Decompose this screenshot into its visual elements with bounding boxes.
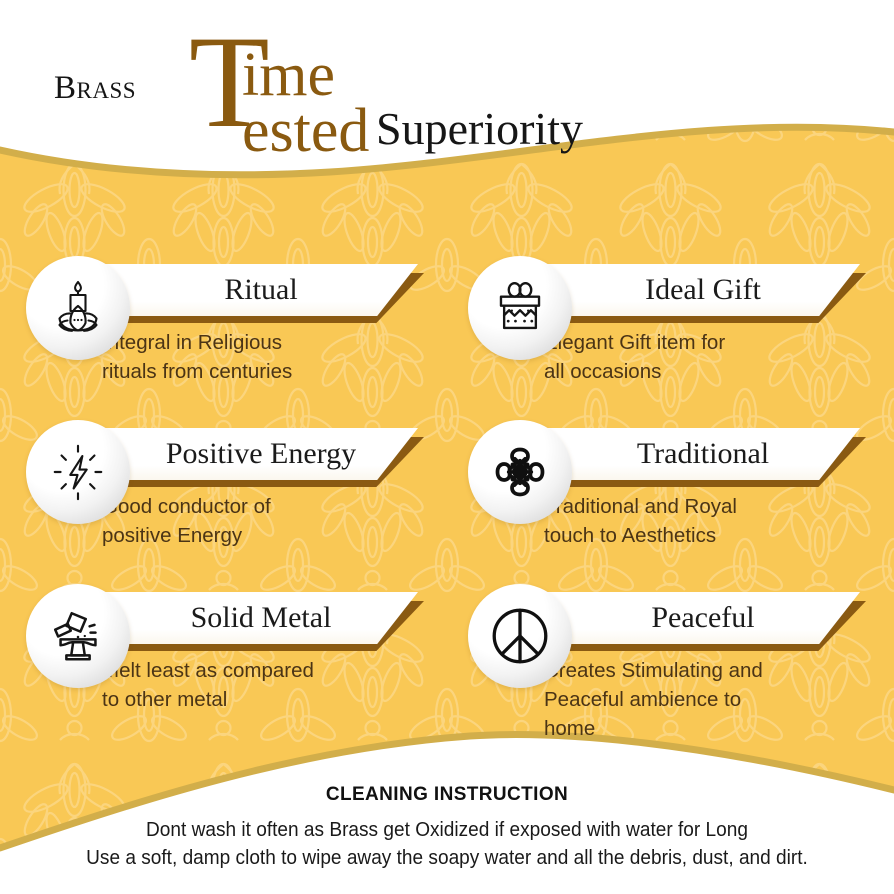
feature-title: Solid Metal	[131, 603, 366, 633]
desc-line: positive Energy	[102, 521, 422, 550]
feature-title: Ritual	[164, 275, 331, 305]
feature-item-peaceful[interactable]: Peaceful Creates Stimulating and Peacefu…	[468, 584, 868, 769]
hammer-anvil-icon	[26, 584, 130, 688]
feature-description: Traditional and Royal touch to Aesthetic…	[544, 492, 864, 550]
feature-description: Good conductor of positive Energy	[102, 492, 422, 550]
feature-item-solid-metal[interactable]: Solid Metal Melt least as compared to ot…	[26, 584, 426, 744]
feature-item-traditional[interactable]: Traditional Traditional and Royal touch …	[468, 420, 868, 580]
feature-title: Peaceful	[591, 603, 788, 633]
feature-banner: Ritual	[78, 264, 426, 324]
desc-line: home	[544, 714, 864, 743]
desc-line: Good conductor of	[102, 492, 422, 521]
desc-line: Peaceful ambience to	[544, 685, 864, 714]
feature-description: Creates Stimulating and Peaceful ambienc…	[544, 656, 864, 743]
feature-description: Melt least as compared to other metal	[102, 656, 422, 714]
feature-title: Traditional	[577, 439, 803, 469]
desc-line: rituals from centuries	[102, 357, 422, 386]
desc-line: Elegant Gift item for	[544, 328, 864, 357]
cleaning-instruction-line-2: Use a soft, damp cloth to wipe away the …	[31, 846, 862, 870]
peace-sign-icon	[468, 584, 572, 688]
desc-line: Traditional and Royal	[544, 492, 864, 521]
feature-item-ritual[interactable]: Ritual Integral in Religious rituals fro…	[26, 256, 426, 416]
infographic-canvas: Brass T ime ested Superiority	[0, 0, 894, 894]
desc-line: to other metal	[102, 685, 422, 714]
endless-knot-icon	[468, 420, 572, 524]
cleaning-instruction-heading: CLEANING INSTRUCTION	[0, 784, 894, 806]
desc-line: Melt least as compared	[102, 656, 422, 685]
feature-grid: Ritual Integral in Religious rituals fro…	[0, 0, 894, 894]
feature-title: Ideal Gift	[585, 275, 795, 305]
feature-title: Positive Energy	[106, 439, 390, 469]
feature-banner: Traditional	[520, 428, 868, 488]
lightning-bolt-icon	[26, 420, 130, 524]
gift-box-icon	[468, 256, 572, 360]
cleaning-instruction-section: CLEANING INSTRUCTION Dont wash it often …	[0, 770, 894, 894]
feature-banner: Solid Metal	[78, 592, 426, 652]
candle-lotus-icon	[26, 256, 130, 360]
desc-line: Creates Stimulating and	[544, 656, 864, 685]
cleaning-instruction-line-1: Dont wash it often as Brass get Oxidized…	[31, 818, 862, 842]
feature-banner: Peaceful	[520, 592, 868, 652]
desc-line: touch to Aesthetics	[544, 521, 864, 550]
feature-description: Elegant Gift item for all occasions	[544, 328, 864, 386]
feature-item-positive-energy[interactable]: Positive Energy Good conductor of positi…	[26, 420, 426, 580]
desc-line: Integral in Religious	[102, 328, 422, 357]
feature-item-ideal-gift[interactable]: Ideal Gift Elegant Gift item for all occ…	[468, 256, 868, 416]
desc-line: all occasions	[544, 357, 864, 386]
feature-description: Integral in Religious rituals from centu…	[102, 328, 422, 386]
feature-banner: Positive Energy	[78, 428, 426, 488]
feature-banner: Ideal Gift	[520, 264, 868, 324]
